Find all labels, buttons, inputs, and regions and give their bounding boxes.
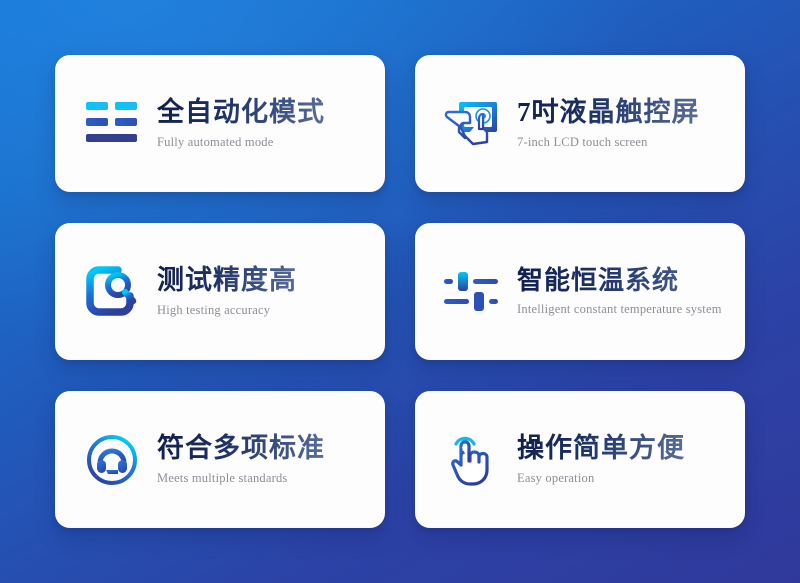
feature-title: 符合多项标准 [157,433,325,463]
feature-card-grid: 全自动化模式 Fully automated mode [55,55,745,528]
feature-card-temperature-system[interactable]: 智能恒温系统 Intelligent constant temperature … [415,223,745,360]
feature-card-fully-automated[interactable]: 全自动化模式 Fully automated mode [55,55,385,192]
feature-grid-banner: 全自动化模式 Fully automated mode [0,0,800,583]
bars-automation-icon [81,93,143,155]
sliders-icon [441,261,503,323]
feature-card-standards[interactable]: 符合多项标准 Meets multiple standards [55,391,385,528]
feature-title: 操作简单方便 [517,433,685,463]
feature-title: 测试精度高 [157,265,297,295]
feature-subtitle: High testing accuracy [157,303,297,318]
feature-subtitle: 7-inch LCD touch screen [517,135,700,150]
tap-hand-icon [441,429,503,491]
feature-subtitle: Intelligent constant temperature system [517,302,722,317]
headset-circle-icon [81,429,143,491]
feature-text-block: 操作简单方便 Easy operation [517,433,685,485]
feature-text-block: 7吋液晶触控屏 7-inch LCD touch screen [517,97,700,149]
feature-title: 全自动化模式 [157,97,325,127]
feature-text-block: 测试精度高 High testing accuracy [157,265,297,317]
feature-card-testing-accuracy[interactable]: 测试精度高 High testing accuracy [55,223,385,360]
feature-subtitle: Fully automated mode [157,135,325,150]
feature-text-block: 智能恒温系统 Intelligent constant temperature … [517,266,722,317]
feature-subtitle: Meets multiple standards [157,471,325,486]
feature-title: 智能恒温系统 [517,266,722,295]
feature-text-block: 符合多项标准 Meets multiple standards [157,433,325,485]
feature-title: 7吋液晶触控屏 [517,97,700,127]
feature-card-touch-screen[interactable]: 7吋液晶触控屏 7-inch LCD touch screen [415,55,745,192]
document-magnifier-icon [81,261,143,323]
feature-text-block: 全自动化模式 Fully automated mode [157,97,325,149]
touch-screen-icon [441,93,503,155]
feature-subtitle: Easy operation [517,471,685,486]
feature-card-easy-operation[interactable]: 操作简单方便 Easy operation [415,391,745,528]
